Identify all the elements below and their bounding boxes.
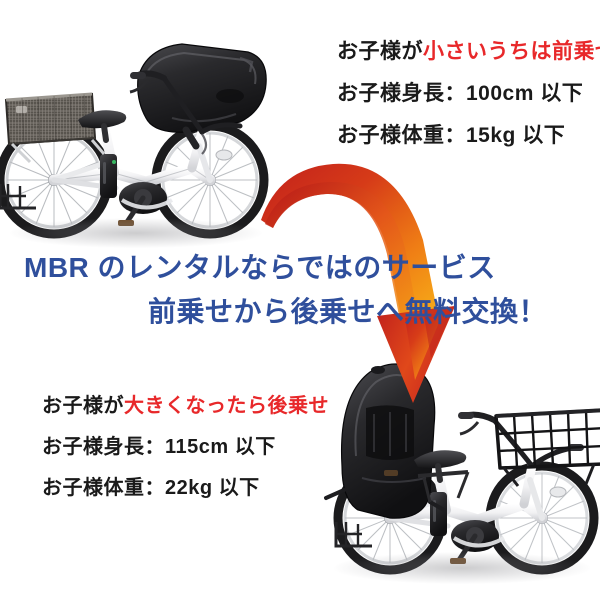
front-spec-title-highlight: 小さいうちは前乗せ bbox=[423, 40, 600, 63]
battery-pack bbox=[430, 492, 447, 536]
rear-spec-height-value: 115cm 以下 bbox=[165, 436, 276, 458]
bike-front-child-seat-image bbox=[0, 22, 286, 252]
poster-canvas: MBR のレンタルならではのサービス 前乗せから後乗せへ無料交換！ お子様が小さ… bbox=[0, 0, 600, 600]
front-spec-title-plain: お子様が bbox=[337, 40, 423, 63]
bike-rear-shadow bbox=[334, 552, 590, 584]
handlebar bbox=[458, 412, 584, 466]
rear-spec-height-label: お子様身長： bbox=[42, 436, 165, 458]
rear-seat-spec-block: お子様が大きくなったら後乗せ お子様身長：115cm 以下 お子様体重：22kg… bbox=[42, 386, 329, 509]
front-spec-weight: お子様体重：15kg 以下 bbox=[337, 115, 600, 157]
rear-basket bbox=[6, 94, 104, 162]
front-spec-height: お子様身長：100cm 以下 bbox=[337, 73, 600, 115]
curved-down-arrow bbox=[255, 158, 470, 403]
front-spec-weight-label: お子様体重： bbox=[337, 124, 466, 147]
rear-spec-weight-label: お子様体重： bbox=[42, 477, 165, 499]
front-spec-title: お子様が小さいうちは前乗せ bbox=[337, 31, 600, 73]
front-seat-spec-block: お子様が小さいうちは前乗せ お子様身長：100cm 以下 お子様体重：15kg … bbox=[337, 31, 600, 157]
rear-spec-height: お子様身長：115cm 以下 bbox=[42, 427, 329, 468]
bike-front-shadow bbox=[10, 218, 262, 248]
front-light bbox=[216, 150, 232, 160]
front-light bbox=[550, 487, 566, 497]
front-spec-height-value: 100cm 以下 bbox=[466, 82, 583, 105]
rear-spec-weight: お子様体重：22kg 以下 bbox=[42, 468, 329, 509]
front-spec-height-label: お子様身長： bbox=[337, 82, 466, 105]
rear-spec-weight-value: 22kg 以下 bbox=[165, 477, 260, 499]
front-spec-weight-value: 15kg 以下 bbox=[466, 124, 565, 147]
rear-spec-title-plain: お子様が bbox=[42, 395, 124, 417]
